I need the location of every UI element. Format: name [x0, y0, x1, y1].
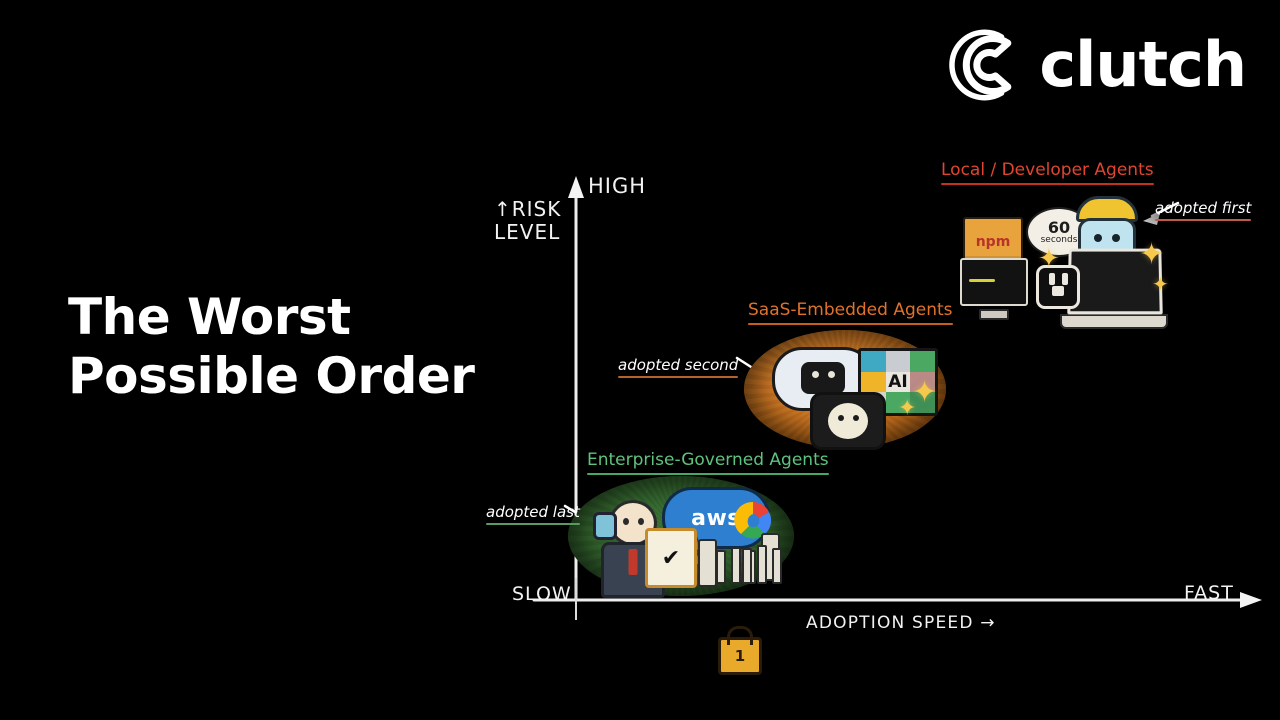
y-axis-title: ↑RISK LEVEL	[494, 198, 561, 244]
cluster-label-text: SaaS-Embedded Agents	[748, 300, 953, 320]
sparkle-icon: ✦	[912, 378, 937, 408]
check-mark: ✔	[662, 546, 680, 571]
x-axis-title: ADOPTION SPEED →	[806, 613, 996, 633]
cluster-label-text: Enterprise-Governed Agents	[587, 450, 829, 470]
y-axis-tick-high: HIGH	[588, 174, 646, 198]
robot-face	[801, 362, 845, 394]
x-axis-arrowhead	[1240, 592, 1262, 608]
annotation-underline	[486, 523, 580, 525]
label-underline	[748, 323, 953, 325]
cluster-label-saas-embedded-agents: SaaS-Embedded Agents	[748, 300, 953, 328]
annotation-text: adopted second	[618, 356, 738, 374]
chip-robot-icon	[810, 392, 886, 450]
cluster-enterprise-governed-agents[interactable]: Enterprise-Governed Agents aws	[0, 0, 70, 130]
label-underline	[941, 183, 1154, 185]
annotation-underline	[1155, 219, 1251, 221]
laptop-base	[1060, 314, 1168, 329]
cluster-label-text: Local / Developer Agents	[941, 160, 1154, 180]
terminal-stand	[979, 309, 1009, 320]
annotation-text: adopted last	[486, 503, 580, 521]
annotation-adopted-first: adopted first	[1155, 199, 1251, 221]
terminal-icon	[960, 258, 1028, 320]
annotation-adopted-last: adopted last	[486, 503, 580, 525]
clipboard-check-icon: ✔	[645, 528, 697, 588]
annotation-adopted-second: adopted second	[618, 356, 738, 378]
fence-icon	[742, 546, 782, 584]
sparkle-icon: ✦	[1152, 274, 1169, 294]
terminal-screen	[960, 258, 1028, 306]
slide-canvas: clutch The Worst Possible Order	[0, 0, 1280, 720]
x-axis-tick-slow: SLOW	[512, 583, 572, 605]
annotation-text: adopted first	[1155, 199, 1251, 217]
risk-vs-adoption-chart: HIGH ↑RISK LEVEL SLOW FAST ADOPTION SPEE…	[0, 0, 1280, 720]
padlock-icon: 1	[718, 637, 762, 675]
y-axis-arrowhead	[568, 176, 584, 198]
cluster-label-local-developer-agents: Local / Developer Agents	[941, 160, 1154, 188]
annotation-underline	[618, 376, 738, 378]
headset-icon	[593, 512, 617, 540]
sparkle-icon: ✦	[1139, 240, 1164, 270]
npm-label: npm	[976, 234, 1011, 250]
robot-face	[828, 403, 868, 439]
cluster-label-enterprise-governed-agents: Enterprise-Governed Agents	[587, 450, 829, 478]
bubble-line-1: 60	[1048, 220, 1070, 236]
x-axis-tick-fast: FAST	[1184, 582, 1234, 604]
lock-label: 1	[735, 647, 745, 665]
sparkle-icon: ✦	[1038, 246, 1060, 272]
necktie-icon	[629, 549, 638, 575]
fence-pillar-icon	[698, 539, 717, 587]
label-underline	[587, 473, 829, 475]
